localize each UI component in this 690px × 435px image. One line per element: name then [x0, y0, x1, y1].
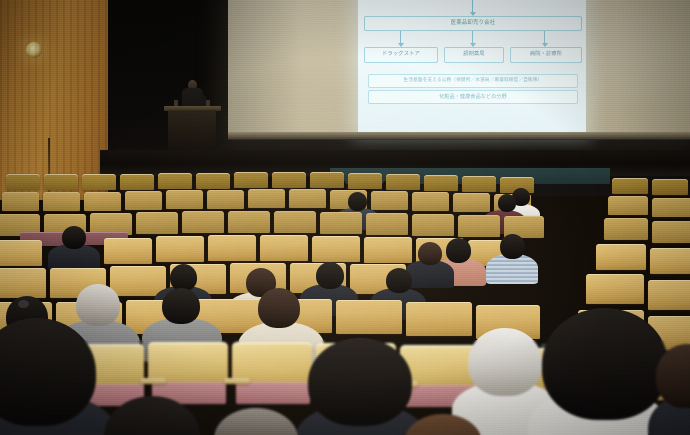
slide-box-public-service: 生活基盤を支える公務（保健所／水道局／麻薬取締官／自衛隊）	[368, 74, 578, 88]
lectern-object-right	[206, 100, 210, 106]
arrow-to-pharmacy	[472, 31, 473, 43]
screen-bottom-edge	[228, 132, 690, 140]
slide-box-pharmacy: 調剤薬局	[444, 47, 504, 63]
hair-clip	[18, 300, 29, 308]
projection-screen: 医薬品メーカー／研究所 医薬品卸売り会社 ドラッグストア 調剤薬局 病院・診療所…	[228, 0, 690, 139]
armrest-3	[224, 378, 250, 384]
slide-box-hospital: 病院・診療所	[510, 47, 582, 63]
slide-box-wholesaler: 医薬品卸売り会社	[364, 16, 582, 31]
seat-cushion-4	[236, 382, 310, 404]
seating-area	[0, 168, 690, 435]
lectern-object-left	[174, 100, 178, 106]
arrow-to-drugstore	[400, 31, 401, 43]
slide-box-cosmetics: 化粧品・健康食品などの分野	[368, 90, 578, 104]
armrest-2	[140, 378, 166, 384]
wall-light-icon	[26, 42, 42, 58]
arrow-to-hospital	[544, 31, 545, 43]
arrow-to-wholesaler	[472, 0, 473, 12]
slide-box-drugstore: ドラッグストア	[364, 47, 438, 63]
slide-content: 医薬品メーカー／研究所 医薬品卸売り会社 ドラッグストア 調剤薬局 病院・診療所…	[358, 0, 586, 132]
auditorium-photo: 医薬品メーカー／研究所 医薬品卸売り会社 ドラッグストア 調剤薬局 病院・診療所…	[0, 0, 690, 435]
